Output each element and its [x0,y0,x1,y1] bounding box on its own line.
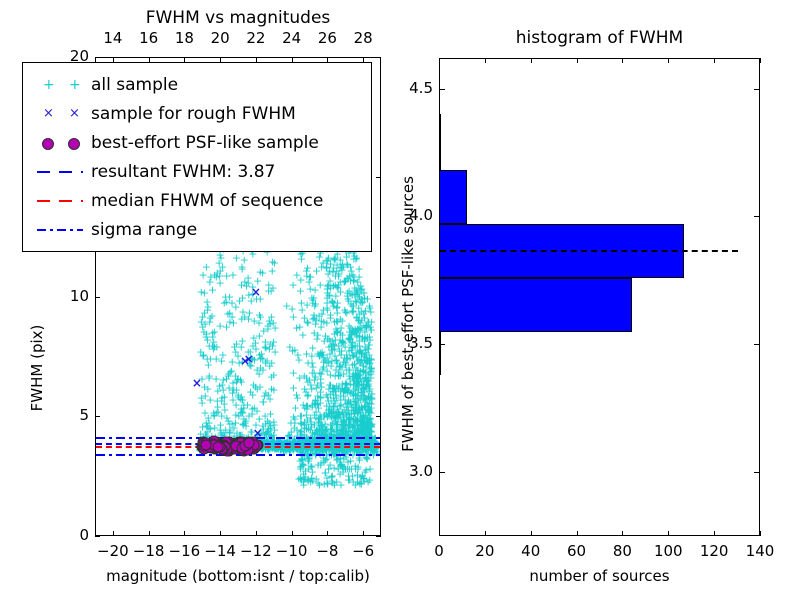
all-sample-point: + [359,383,368,394]
all-sample-point: + [342,307,351,318]
all-sample-point: + [349,350,358,361]
all-sample-point: + [349,350,358,361]
all-sample-point: + [227,418,236,429]
all-sample-point: + [206,312,215,323]
all-sample-point: + [305,375,314,386]
sigma-range-line [96,437,380,439]
all-sample-point: + [324,341,333,352]
all-sample-point: + [297,411,306,422]
all-sample-point: + [232,399,241,410]
all-sample-point: + [348,423,357,434]
all-sample-point: + [240,255,249,266]
all-sample-point: + [359,390,368,401]
all-sample-point: + [199,350,208,361]
all-sample-point: + [360,387,369,398]
all-sample-point: + [238,263,247,274]
all-sample-point: + [358,358,367,369]
all-sample-point: + [341,307,350,318]
all-sample-point: + [260,342,269,353]
all-sample-point: + [361,396,370,407]
all-sample-point: + [333,302,342,313]
all-sample-point: + [229,317,238,328]
all-sample-point: + [361,372,370,383]
all-sample-point: + [357,323,366,334]
all-sample-point: + [347,266,356,277]
all-sample-point: + [344,387,353,398]
all-sample-point: + [338,259,347,270]
all-sample-point: + [245,307,254,318]
all-sample-point: + [339,262,348,273]
all-sample-point: + [320,421,329,432]
histogram-xtick-20: 20 [466,542,504,560]
all-sample-point: + [337,338,346,349]
all-sample-point: + [328,417,337,428]
all-sample-point: + [352,297,361,308]
xtick-bottom-2: −16 [165,542,203,560]
all-sample-point: + [329,392,338,403]
all-sample-point: + [312,447,321,458]
all-sample-point: + [357,307,366,318]
all-sample-point: + [221,292,230,303]
all-sample-point: + [364,420,373,431]
all-sample-point: + [203,305,212,316]
histogram-bar [440,114,441,170]
all-sample-point: + [220,398,229,409]
all-sample-point: + [288,279,297,290]
all-sample-point: + [231,418,240,429]
histogram-bar [440,170,467,224]
all-sample-point: + [320,418,329,429]
all-sample-point: + [264,425,273,436]
all-sample-point: + [364,424,373,435]
all-sample-point: + [351,405,360,416]
all-sample-point: + [345,286,354,297]
all-sample-point: + [251,337,260,348]
all-sample-point: + [319,457,328,468]
all-sample-point: + [337,265,346,276]
all-sample-point: + [320,425,329,436]
all-sample-point: + [358,296,367,307]
all-sample-point: + [351,253,360,264]
all-sample-point: + [366,324,375,335]
all-sample-point: + [354,353,363,364]
all-sample-point: + [353,376,362,387]
all-sample-point: + [362,378,371,389]
all-sample-point: + [336,334,345,345]
all-sample-point: + [322,357,331,368]
all-sample-point: + [300,420,309,431]
all-sample-point: + [255,331,264,342]
all-sample-point: + [323,305,332,316]
all-sample-point: + [315,417,324,428]
all-sample-point: + [315,351,324,362]
all-sample-point: + [261,336,270,347]
all-sample-point: + [358,331,367,342]
all-sample-point: + [364,417,373,428]
all-sample-point: + [215,321,224,332]
all-sample-point: + [239,403,248,414]
all-sample-point: + [336,395,345,406]
all-sample-point: + [359,414,368,425]
all-sample-point: + [351,296,360,307]
all-sample-point: + [359,474,368,485]
all-sample-point: + [316,377,325,388]
cross-icon: × [43,106,54,122]
all-sample-point: + [353,421,362,432]
all-sample-point: + [353,372,362,383]
all-sample-point: + [303,318,312,329]
legend-label: all sample [91,75,178,95]
all-sample-point: + [267,372,276,383]
all-sample-point: + [304,277,313,288]
psf-like-point [239,444,250,455]
all-sample-point: + [268,256,277,267]
all-sample-point: + [252,294,261,305]
all-sample-point: + [319,350,328,361]
all-sample-point: + [338,315,347,326]
all-sample-point: + [340,304,349,315]
all-sample-point: + [340,385,349,396]
all-sample-point: + [349,325,358,336]
all-sample-point: + [359,393,368,404]
all-sample-point: + [323,287,332,298]
all-sample-point: + [223,308,232,319]
all-sample-point: + [315,479,324,490]
all-sample-point: + [350,409,359,420]
all-sample-point: + [308,342,317,353]
all-sample-point: + [351,399,360,410]
all-sample-point: + [349,253,358,264]
all-sample-point: + [317,431,326,442]
all-sample-point: + [269,337,278,348]
all-sample-point: + [309,293,318,304]
all-sample-point: + [328,385,337,396]
all-sample-point: + [313,399,322,410]
all-sample-point: + [367,324,376,335]
right-panel-title: histogram of FWHM [439,28,760,48]
all-sample-point: + [243,399,252,410]
all-sample-point: + [227,365,236,376]
all-sample-point: + [323,411,332,422]
all-sample-point: + [351,390,360,401]
all-sample-point: + [366,447,375,458]
all-sample-point: + [268,282,277,293]
all-sample-point: + [224,370,233,381]
all-sample-point: + [344,296,353,307]
all-sample-point: + [363,413,372,424]
all-sample-point: + [361,362,370,373]
all-sample-point: + [332,355,341,366]
all-sample-point: + [268,340,277,351]
all-sample-point: + [361,464,370,475]
all-sample-point: + [197,317,206,328]
all-sample-point: + [349,414,358,425]
all-sample-point: + [323,269,332,280]
all-sample-point: + [312,406,321,417]
all-sample-point: + [344,419,353,430]
histogram-bar [440,332,441,375]
all-sample-point: + [225,317,234,328]
all-sample-point: + [361,367,370,378]
all-sample-point: + [356,407,365,418]
all-sample-point: + [367,421,376,432]
all-sample-point: + [343,294,352,305]
all-sample-point: + [363,401,372,412]
all-sample-point: + [333,419,342,430]
histogram-xtick-mark [760,531,761,536]
all-sample-point: + [331,280,340,291]
all-sample-point: + [220,298,229,309]
all-sample-point: + [298,459,307,470]
all-sample-point: + [323,298,332,309]
all-sample-point: + [246,347,255,358]
all-sample-point: + [302,348,311,359]
all-sample-point: + [292,425,301,436]
all-sample-point: + [261,410,270,421]
legend-item-3: resultant FWHM: 3.87 [29,157,363,186]
all-sample-point: + [314,423,323,434]
all-sample-point: + [296,463,305,474]
all-sample-point: + [346,334,355,345]
all-sample-point: + [302,424,311,435]
all-sample-point: + [323,478,332,489]
all-sample-point: + [364,391,373,402]
all-sample-point: + [217,356,226,367]
all-sample-point: + [264,285,273,296]
all-sample-point: + [237,261,246,272]
all-sample-point: + [364,317,373,328]
histogram-xtick-100: 100 [649,542,687,560]
all-sample-point: + [323,333,332,344]
all-sample-point: + [334,280,343,291]
all-sample-point: + [332,476,341,487]
all-sample-point: + [303,390,312,401]
all-sample-point: + [338,423,347,434]
all-sample-point: + [357,348,366,359]
psf-like-point [242,440,253,451]
all-sample-point: + [200,288,209,299]
all-sample-point: + [204,412,213,423]
all-sample-point: + [209,410,218,421]
all-sample-point: + [302,404,311,415]
all-sample-point: + [293,430,302,441]
all-sample-point: + [346,396,355,407]
all-sample-point: + [308,367,317,378]
all-sample-point: + [349,420,358,431]
all-sample-point: + [351,464,360,475]
all-sample-point: + [367,420,376,431]
all-sample-point: + [352,287,361,298]
legend-marker-dashed-line-icon [29,162,91,182]
psf-like-point [237,440,248,451]
all-sample-point: + [364,343,373,354]
all-sample-point: + [297,461,306,472]
all-sample-point: + [270,419,279,430]
all-sample-point: + [358,404,367,415]
all-sample-point: + [270,424,279,435]
all-sample-point: + [358,420,367,431]
all-sample-point: + [365,412,374,423]
all-sample-point: + [331,414,340,425]
all-sample-point: + [263,426,272,437]
all-sample-point: + [345,412,354,423]
all-sample-point: + [326,423,335,434]
all-sample-point: + [327,406,336,417]
all-sample-point: + [228,378,237,389]
all-sample-point: + [348,471,357,482]
all-sample-point: + [359,365,368,376]
all-sample-point: + [326,419,335,430]
all-sample-point: + [198,422,207,433]
all-sample-point: + [363,418,372,429]
all-sample-point: + [341,420,350,431]
all-sample-point: + [352,414,361,425]
all-sample-point: + [308,313,317,324]
all-sample-point: + [349,397,358,408]
all-sample-point: + [310,397,319,408]
all-sample-point: + [235,358,244,369]
all-sample-point: + [336,459,345,470]
all-sample-point: + [239,400,248,411]
rough-fwhm-point: × [192,377,202,389]
all-sample-point: + [322,390,331,401]
all-sample-point: + [354,376,363,387]
all-sample-point: + [222,412,231,423]
all-sample-point: + [346,330,355,341]
all-sample-point: + [349,301,358,312]
all-sample-point: + [317,349,326,360]
all-sample-point: + [232,339,241,350]
all-sample-point: + [353,415,362,426]
all-sample-point: + [200,308,209,319]
all-sample-point: + [251,419,260,430]
all-sample-point: + [362,323,371,334]
all-sample-point: + [322,408,331,419]
all-sample-point: + [319,304,328,315]
all-sample-point: + [359,384,368,395]
all-sample-point: + [209,337,218,348]
all-sample-point: + [210,410,219,421]
all-sample-point: + [289,412,298,423]
all-sample-point: + [253,430,262,441]
all-sample-point: + [314,414,323,425]
all-sample-point: + [249,332,258,343]
all-sample-point: + [366,373,375,384]
all-sample-point: + [212,272,221,283]
all-sample-point: + [340,416,349,427]
all-sample-point: + [319,317,328,328]
all-sample-point: + [293,349,302,360]
all-sample-point: + [358,402,367,413]
all-sample-point: + [230,342,239,353]
all-sample-point: + [353,469,362,480]
all-sample-point: + [303,440,312,451]
all-sample-point: + [351,370,360,381]
xtick-bottom-7: −6 [344,542,382,560]
all-sample-point: + [255,310,264,321]
all-sample-point: + [338,421,347,432]
all-sample-point: + [358,471,367,482]
all-sample-point: + [241,420,250,431]
all-sample-point: + [302,270,311,281]
all-sample-point: + [363,317,372,328]
all-sample-point: + [234,374,243,385]
all-sample-point: + [319,440,328,451]
all-sample-point: + [329,262,338,273]
all-sample-point: + [202,261,211,272]
all-sample-point: + [295,321,304,332]
all-sample-point: + [314,402,323,413]
all-sample-point: + [342,380,351,391]
all-sample-point: + [331,385,340,396]
all-sample-point: + [330,371,339,382]
all-sample-point: + [342,422,351,433]
all-sample-point: + [200,318,209,329]
all-sample-point: + [198,350,207,361]
dot-icon [68,138,80,150]
all-sample-point: + [313,424,322,435]
all-sample-point: + [338,406,347,417]
all-sample-point: + [305,440,314,451]
all-sample-point: + [266,319,275,330]
all-sample-point: + [360,351,369,362]
all-sample-point: + [306,380,315,391]
all-sample-point: + [270,323,279,334]
all-sample-point: + [353,341,362,352]
all-sample-point: + [238,408,247,419]
all-sample-point: + [365,407,374,418]
all-sample-point: + [260,390,269,401]
all-sample-point: + [346,426,355,437]
all-sample-point: + [325,276,334,287]
all-sample-point: + [312,424,321,435]
all-sample-point: + [347,288,356,299]
all-sample-point: + [334,370,343,381]
all-sample-point: + [324,252,333,263]
all-sample-point: + [359,410,368,421]
all-sample-point: + [323,284,332,295]
all-sample-point: + [352,377,361,388]
all-sample-point: + [330,395,339,406]
all-sample-point: + [271,346,280,357]
all-sample-point: + [353,372,362,383]
all-sample-point: + [225,425,234,436]
all-sample-point: + [348,360,357,371]
all-sample-point: + [348,324,357,335]
all-sample-point: + [248,408,257,419]
legend-marker-plus-icon: ++ [29,75,91,95]
xtick-bottom-3: −14 [201,542,239,560]
all-sample-point: + [327,404,336,415]
resultant-fwhm-line [96,443,380,445]
all-sample-point: + [334,341,343,352]
all-sample-point: + [220,404,229,415]
all-sample-point: + [247,295,256,306]
all-sample-point: + [362,321,371,332]
all-sample-point: + [343,387,352,398]
all-sample-point: + [199,269,208,280]
all-sample-point: + [232,377,241,388]
psf-like-point [229,440,240,451]
all-sample-point: + [307,473,316,484]
all-sample-point: + [259,396,268,407]
all-sample-point: + [354,406,363,417]
histogram-xtick-80: 80 [603,542,641,560]
all-sample-point: + [202,420,211,431]
all-sample-point: + [353,324,362,335]
all-sample-point: + [286,417,295,428]
all-sample-point: + [311,412,320,423]
